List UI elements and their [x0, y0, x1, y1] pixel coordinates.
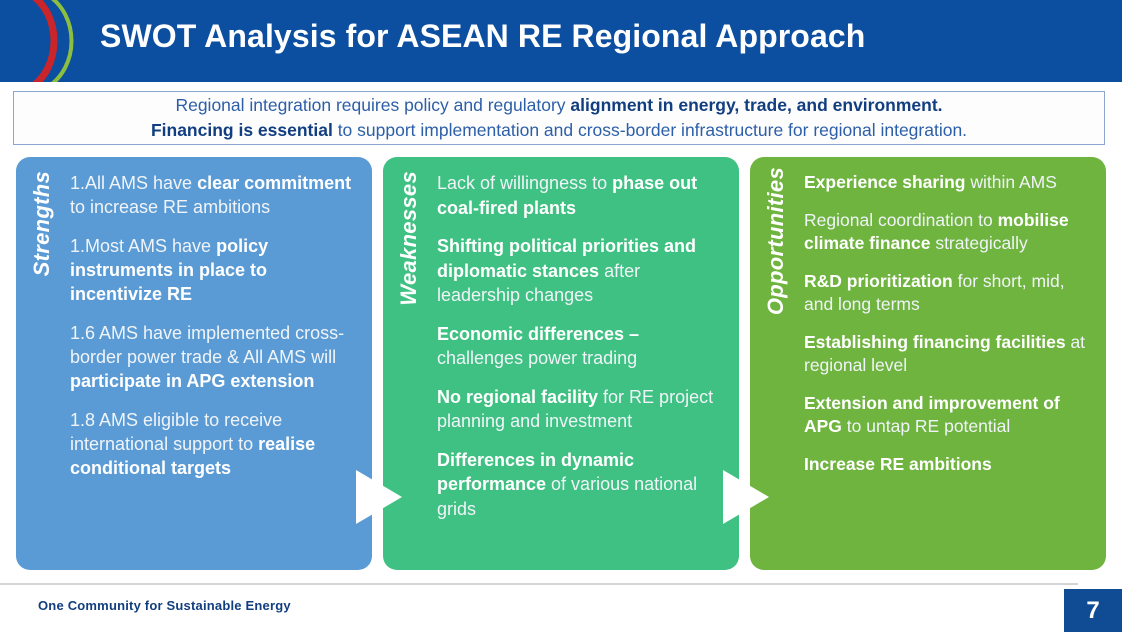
banner-line-1-bold: alignment in energy, trade, and environm…: [570, 95, 942, 115]
list-item: Lack of willingness to phase out coal-fi…: [437, 171, 725, 220]
list-item: No regional facility for RE project plan…: [437, 385, 725, 434]
arrow-strengths-to-weaknesses: [356, 466, 404, 528]
column-body-strengths: 1.All AMS have clear commitment to incre…: [68, 157, 372, 570]
list-item: 1.8 AMS eligible to receive internationa…: [70, 408, 358, 480]
summary-banner: Regional integration requires policy and…: [13, 91, 1105, 145]
list-item: Extension and improvement of APG to unta…: [804, 392, 1092, 439]
footer-tagline: One Community for Sustainable Energy: [38, 598, 291, 613]
arrow-weaknesses-to-opportunities: [723, 466, 771, 528]
banner-line-2: Financing is essential to support implem…: [151, 118, 967, 143]
list-item: 1.All AMS have clear commitment to incre…: [70, 171, 358, 219]
list-item: Differences in dynamic performance of va…: [437, 448, 725, 522]
list-item: Experience sharing within AMS: [804, 171, 1092, 195]
list-item: Economic differences – challenges power …: [437, 322, 725, 371]
banner-line-2-plain: to support implementation and cross-bord…: [333, 120, 967, 140]
banner-line-1: Regional integration requires policy and…: [175, 93, 942, 118]
list-item: 1.6 AMS have implemented cross-border po…: [70, 321, 358, 393]
swot-column-strengths: Strengths 1.All AMS have clear commitmen…: [16, 157, 372, 570]
slide-header: SWOT Analysis for ASEAN RE Regional Appr…: [0, 0, 1122, 82]
swot-column-opportunities: Opportunities Experience sharing within …: [750, 157, 1106, 570]
swot-columns: Strengths 1.All AMS have clear commitmen…: [16, 157, 1106, 570]
asean-centre-for-energy-arc-logo: [0, 0, 110, 82]
list-item: Shifting political priorities and diplom…: [437, 234, 725, 308]
list-item: 1.Most AMS have policy instruments in pl…: [70, 234, 358, 306]
footer-divider: [0, 583, 1078, 585]
list-item: Establishing financing facilities at reg…: [804, 331, 1092, 378]
page-title: SWOT Analysis for ASEAN RE Regional Appr…: [100, 18, 865, 55]
column-body-opportunities: Experience sharing within AMS Regional c…: [802, 157, 1106, 570]
list-item: Regional coordination to mobilise climat…: [804, 209, 1092, 256]
swot-column-weaknesses: Weaknesses Lack of willingness to phase …: [383, 157, 739, 570]
banner-line-1-plain: Regional integration requires policy and…: [175, 95, 570, 115]
banner-line-2-bold: Financing is essential: [151, 120, 333, 140]
page-number-badge: 7: [1064, 589, 1122, 632]
list-item: R&D prioritization for short, mid, and l…: [804, 270, 1092, 317]
column-body-weaknesses: Lack of willingness to phase out coal-fi…: [435, 157, 739, 570]
column-label-strengths: Strengths: [16, 157, 68, 570]
list-item: Increase RE ambitions: [804, 453, 1092, 477]
